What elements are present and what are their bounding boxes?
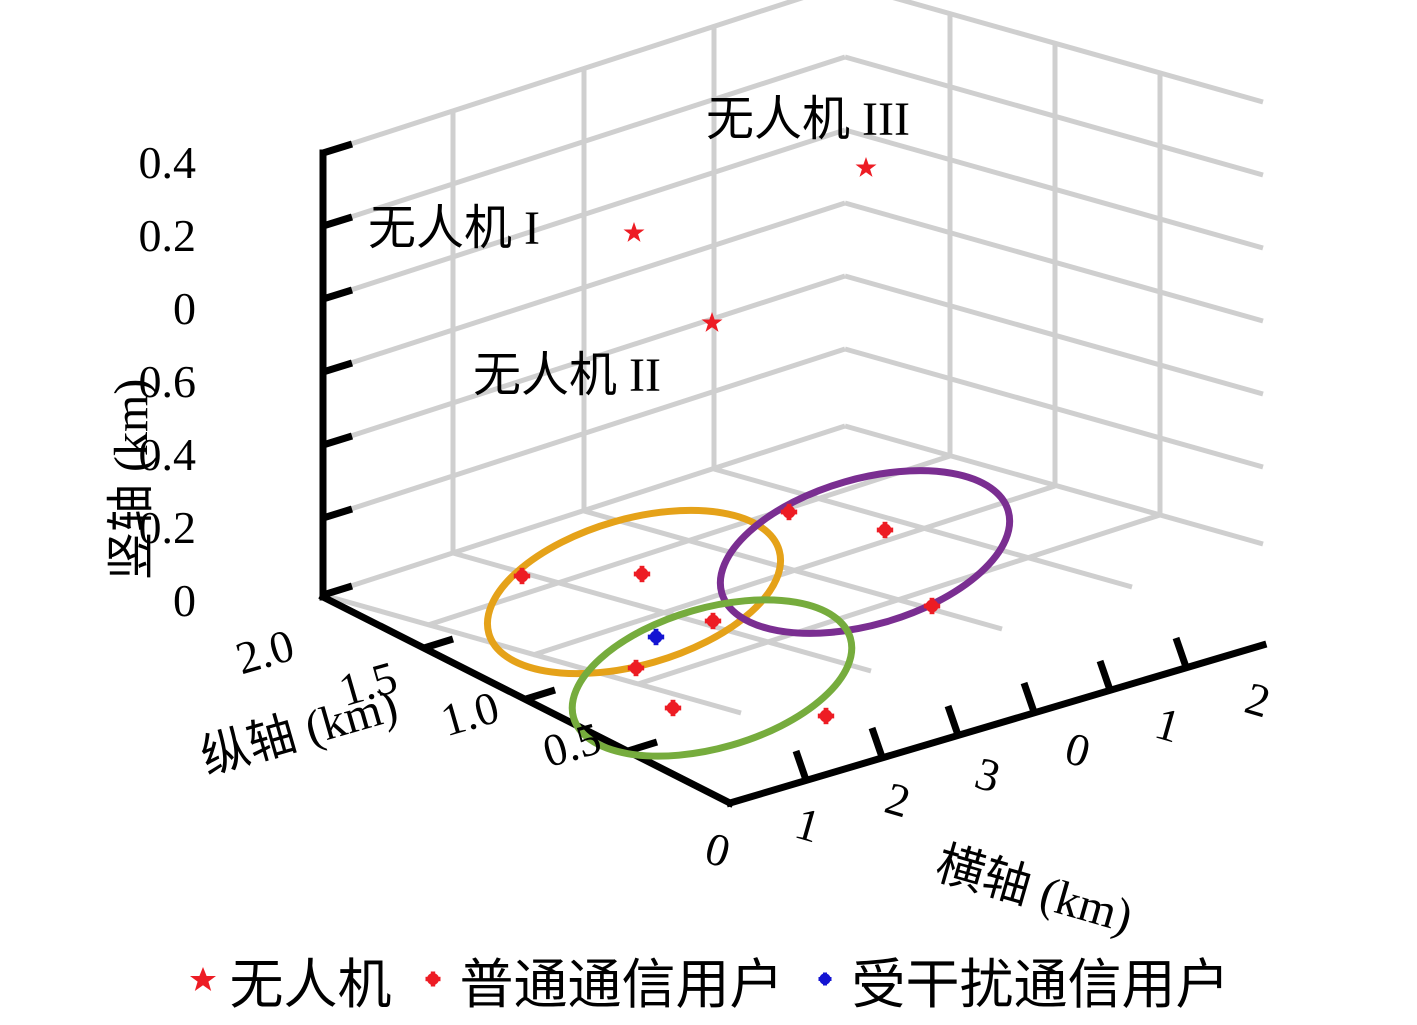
legend-item-uav: 无人机 (188, 940, 392, 1019)
cluster-ellipse-purple (702, 441, 1029, 663)
legend-label-jammed-user: 受干扰通信用户 (852, 940, 1230, 1019)
star-icon (188, 964, 218, 994)
uav-marker-3 (856, 157, 877, 177)
z-tick-label: 0 (90, 578, 196, 624)
annotation-uav-1: 无人机 I (368, 205, 540, 253)
user-marker (665, 700, 681, 716)
user-marker (877, 522, 893, 538)
legend-item-jammed-user: 受干扰通信用户 (810, 940, 1230, 1019)
figure-3d-scatter: 0.4 0.2 0 0.6 0.4 0.2 0 2.0 1.5 1.0 0.5 … (0, 0, 1417, 1025)
uav-marker-1 (624, 222, 645, 242)
dot-icon (810, 964, 840, 994)
z-tick-label: 0.4 (90, 140, 196, 186)
user-marker (818, 708, 834, 724)
legend-item-user: 普通通信用户 (418, 940, 784, 1019)
jammed-user-marker (648, 629, 664, 645)
z-tick-label: 0.2 (90, 213, 196, 259)
user-marker (634, 566, 650, 582)
z-tick-label: 0 (90, 286, 196, 332)
jammed-user-markers (648, 629, 664, 645)
z-axis-title: 竖轴 (km) (108, 379, 156, 580)
dot-icon (418, 964, 448, 994)
annotation-uav-3: 无人机 III (706, 96, 910, 144)
legend-label-uav: 无人机 (230, 940, 392, 1019)
legend: 无人机 普通通信用户 (0, 938, 1417, 1020)
annotation-uav-2: 无人机 II (473, 352, 661, 400)
legend-label-user: 普通通信用户 (460, 940, 784, 1019)
